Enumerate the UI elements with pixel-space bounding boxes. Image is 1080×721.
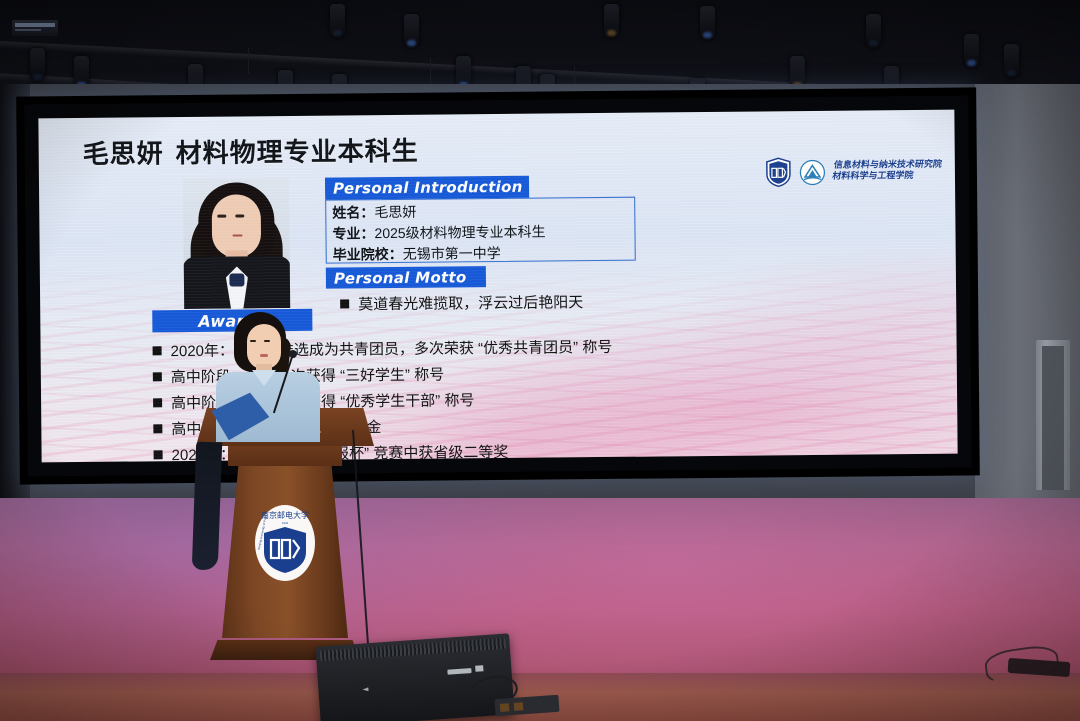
presentation-slide: 毛思妍材料物理专业本科生 — [38, 110, 957, 463]
speaker-logo-icon — [362, 687, 368, 691]
university-emblem-icon: 南京邮电大学 1942 Nanjing University of Posts — [254, 504, 316, 582]
bullet-square-icon — [154, 450, 163, 459]
info-row: 毕业院校：无锡市第一中学 — [333, 242, 629, 266]
institution-name: 信息材料与纳米技术研究院 材料科学与工程学院 — [831, 159, 942, 183]
stage-light-icon — [1004, 44, 1019, 78]
door-frame — [1036, 340, 1070, 490]
wall-sign-line2 — [15, 29, 41, 31]
speaker-person — [208, 312, 328, 432]
speaker-eye-left — [250, 340, 256, 342]
speaker-mouth — [260, 354, 268, 357]
portrait-tie — [229, 273, 244, 286]
section-header-personal-introduction: Personal Introduction — [325, 176, 529, 200]
personal-motto-text: 莫道春光难揽取，浮云过后艳阳天 — [340, 291, 583, 314]
bullet-square-icon — [153, 346, 162, 355]
info-label: 姓名： — [332, 204, 374, 220]
institution-name-line2: 材料科学与工程学院 — [831, 171, 940, 183]
portrait-eye-left — [217, 215, 226, 218]
bullet-square-icon — [153, 398, 162, 407]
info-row: 姓名：毛思妍 — [332, 200, 628, 224]
speaker-eye-right — [264, 340, 270, 342]
info-value: 无锡市第一中学 — [403, 245, 501, 262]
hanging-wire — [430, 58, 431, 86]
bullet-square-icon — [153, 372, 162, 381]
slide-title-name: 毛思妍 — [83, 138, 164, 169]
draped-cloth — [192, 442, 222, 571]
portrait-face — [212, 194, 262, 257]
personal-introduction-box: 姓名：毛思妍 专业：2025级材料物理专业本科生 毕业院校：无锡市第一中学 — [325, 197, 636, 264]
lectern: 南京邮电大学 Nanjing University of Posts and T… — [196, 408, 374, 660]
stage-light-icon — [700, 6, 715, 40]
student-portrait-photo — [183, 178, 290, 309]
screenshot-root: 毛思妍材料物理专业本科生 — [0, 0, 1080, 721]
info-value: 毛思妍 — [374, 204, 416, 220]
stage-light-icon — [604, 4, 619, 38]
info-label: 毕业院校： — [333, 246, 403, 263]
slide-title-major: 材料物理专业本科生 — [176, 136, 419, 168]
institution-name-line1: 信息材料与纳米技术研究院 — [833, 159, 942, 171]
slide-title: 毛思妍材料物理专业本科生 — [83, 131, 419, 171]
speaker-label-secondary — [475, 665, 483, 672]
institution-logos: 信息材料与纳米技术研究院 材料科学与工程学院 — [765, 156, 941, 188]
portrait-eye-right — [235, 214, 244, 217]
wall-sign — [12, 20, 58, 36]
section-header-personal-motto: Personal Motto — [326, 266, 486, 289]
wall-sign-line1 — [15, 23, 55, 27]
speaker-label — [447, 668, 471, 675]
stage-light-icon — [30, 48, 45, 82]
speaker-face — [247, 324, 281, 369]
stage-light-icon — [866, 14, 881, 48]
stage-light-icon — [330, 4, 345, 38]
university-crest-icon — [765, 157, 792, 187]
info-row: 专业：2025级材料物理专业本科生 — [332, 221, 628, 245]
info-value: 2025级材料物理专业本科生 — [374, 224, 545, 242]
svg-text:1942: 1942 — [282, 521, 289, 525]
hanging-wire — [248, 48, 249, 74]
info-label: 专业： — [332, 225, 374, 241]
bullet-square-icon — [153, 424, 162, 433]
stage-light-icon — [964, 34, 979, 68]
lectern-neck — [228, 446, 342, 466]
bullet-square-icon — [340, 299, 349, 308]
motto-value: 莫道春光难揽取，浮云过后艳阳天 — [358, 294, 583, 313]
portrait-mouth — [232, 234, 242, 236]
power-outlet — [514, 702, 524, 711]
svg-text:南京邮电大学: 南京邮电大学 — [261, 510, 309, 520]
institute-logo-icon — [799, 158, 826, 185]
screen-bezel: 毛思妍材料物理专业本科生 — [24, 95, 972, 476]
led-screen: 毛思妍材料物理专业本科生 — [16, 87, 980, 484]
stage-light-icon — [404, 14, 419, 48]
